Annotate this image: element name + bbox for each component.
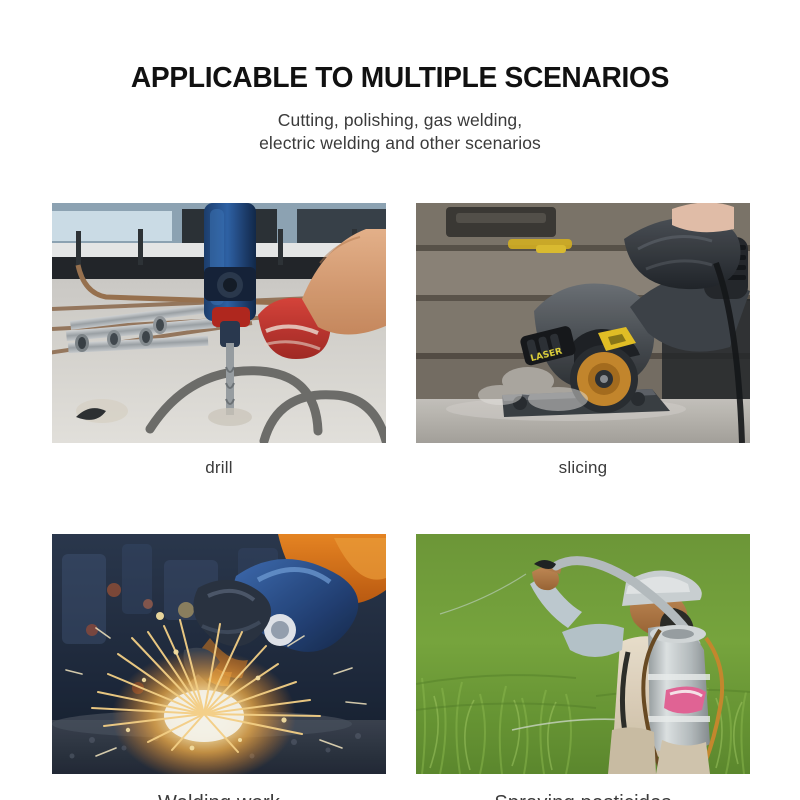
scenario-row-bottom: Welding work [52, 534, 750, 800]
caption-drill: drill [52, 443, 386, 478]
caption-welding: Welding work [52, 774, 386, 800]
page-title: APPLICABLE TO MULTIPLE SCENARIOS [12, 62, 788, 95]
page-header: APPLICABLE TO MULTIPLE SCENARIOS Cutting… [0, 0, 800, 154]
scenario-row-top: drill [52, 203, 750, 478]
scenario-card-slicing[interactable]: LASER [416, 203, 750, 478]
drill-photo [52, 203, 386, 443]
page-subtitle: Cutting, polishing, gas welding, electri… [0, 109, 800, 154]
scenario-grid: drill [52, 203, 750, 800]
scenario-card-drill[interactable]: drill [52, 203, 386, 478]
scenarios-page: APPLICABLE TO MULTIPLE SCENARIOS Cutting… [0, 0, 800, 800]
slicing-photo: LASER [416, 203, 750, 443]
welding-photo [52, 534, 386, 774]
caption-spraying: Spraying pesticides [416, 774, 750, 800]
scenario-card-welding[interactable]: Welding work [52, 534, 386, 800]
subtitle-line-1: Cutting, polishing, gas welding, [0, 109, 800, 131]
spraying-photo [416, 534, 750, 774]
scenario-card-spraying[interactable]: Spraying pesticides [416, 534, 750, 800]
subtitle-line-2: electric welding and other scenarios [0, 132, 800, 154]
caption-slicing: slicing [416, 443, 750, 478]
